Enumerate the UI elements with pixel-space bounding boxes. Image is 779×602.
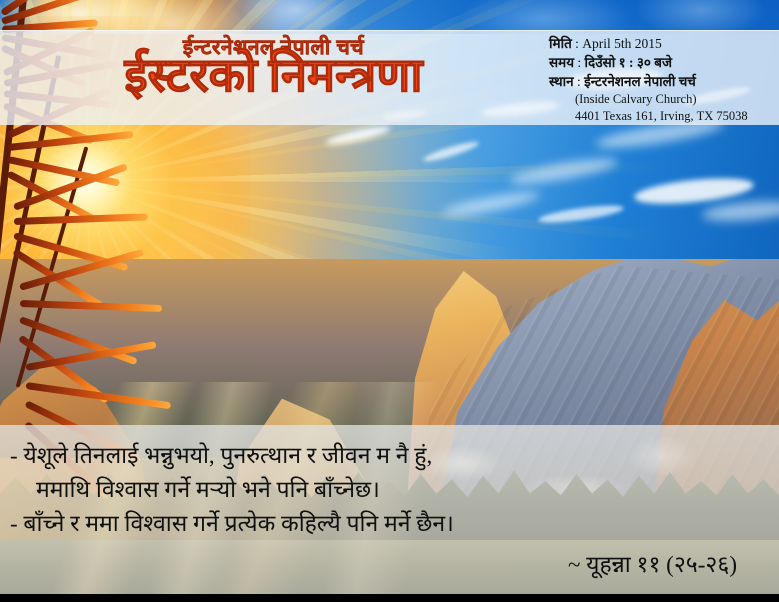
verse-line-2: ममाथि विश्वास गर्ने मर्‍यो भने पनि बाँच्… [10,473,763,507]
easter-invitation-flyer: ईन्टरनेशनल नेपाली चर्च ईस्टरको निमन्त्रण… [0,0,779,602]
footer-letterbox [0,594,779,602]
venue-value: ईन्टरनेशनल नेपाली चर्च [584,74,696,89]
scripture-reference: ~ यूहन्ना ११ (२५-२६) [10,547,763,579]
date-separator: : [575,36,579,51]
header-band: ईन्टरनेशनल नेपाली चर्च ईस्टरको निमन्त्रण… [0,30,779,125]
verse-line-3: - बाँच्ने र ममा विश्वास गर्ने प्रत्येक क… [10,507,763,541]
event-details: मिति : April 5th 2015 समय : दिउँसो १ : ३… [549,34,775,125]
time-separator: : [577,55,581,70]
event-date-row: मिति : April 5th 2015 [549,34,775,53]
venue-note: (Inside Calvary Church) [549,91,775,108]
verse-line-1: - येशूले तिनलाई भन्नुभयो, पुनरुत्थान र ज… [10,439,763,473]
scripture-band: - येशूले तिनलाई भन्नुभयो, पुनरुत्थान र ज… [0,425,779,594]
time-value: दिउँसो १ : ३० बजे [585,55,672,70]
venue-label: स्थान [549,74,574,89]
date-label: मिति [549,36,572,51]
time-label: समय [549,55,574,70]
page-title: ईस्टरको निमन्त्रणा [0,52,547,101]
event-venue-row: स्थान : ईन्टरनेशनल नेपाली चर्च [549,72,775,91]
date-value: April 5th 2015 [582,36,662,51]
venue-address: 4401 Texas 161, Irving, TX 75038 [549,108,775,125]
venue-separator: : [577,74,581,89]
event-time-row: समय : दिउँसो १ : ३० बजे [549,53,775,72]
